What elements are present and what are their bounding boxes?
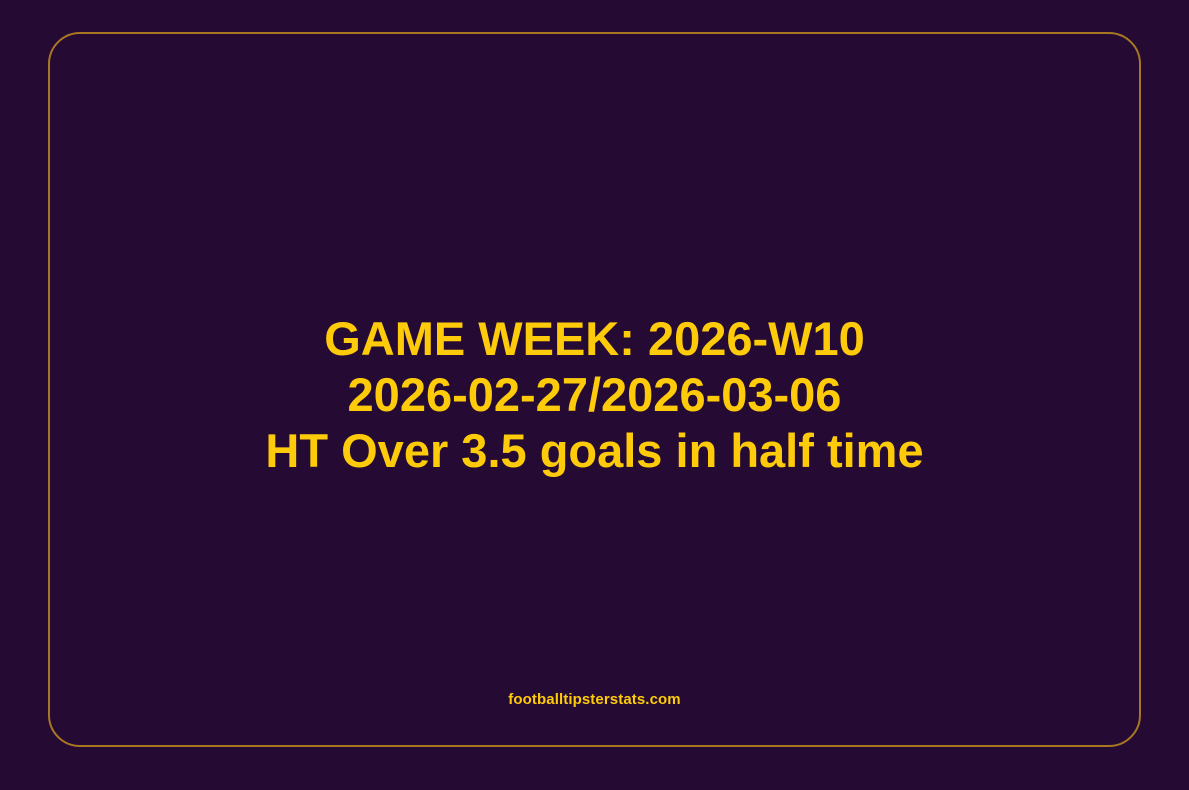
headline-line-game-week: GAME WEEK: 2026-W10 — [324, 311, 865, 367]
site-watermark: footballtipsterstats.com — [508, 691, 680, 708]
headline-line-market: HT Over 3.5 goals in half time — [265, 423, 923, 479]
footer: footballtipsterstats.com — [0, 691, 1189, 709]
headline-line-date-range: 2026-02-27/2026-03-06 — [348, 367, 842, 423]
headline-block: GAME WEEK: 2026-W10 2026-02-27/2026-03-0… — [0, 0, 1189, 790]
title-card: GAME WEEK: 2026-W10 2026-02-27/2026-03-0… — [0, 0, 1189, 790]
